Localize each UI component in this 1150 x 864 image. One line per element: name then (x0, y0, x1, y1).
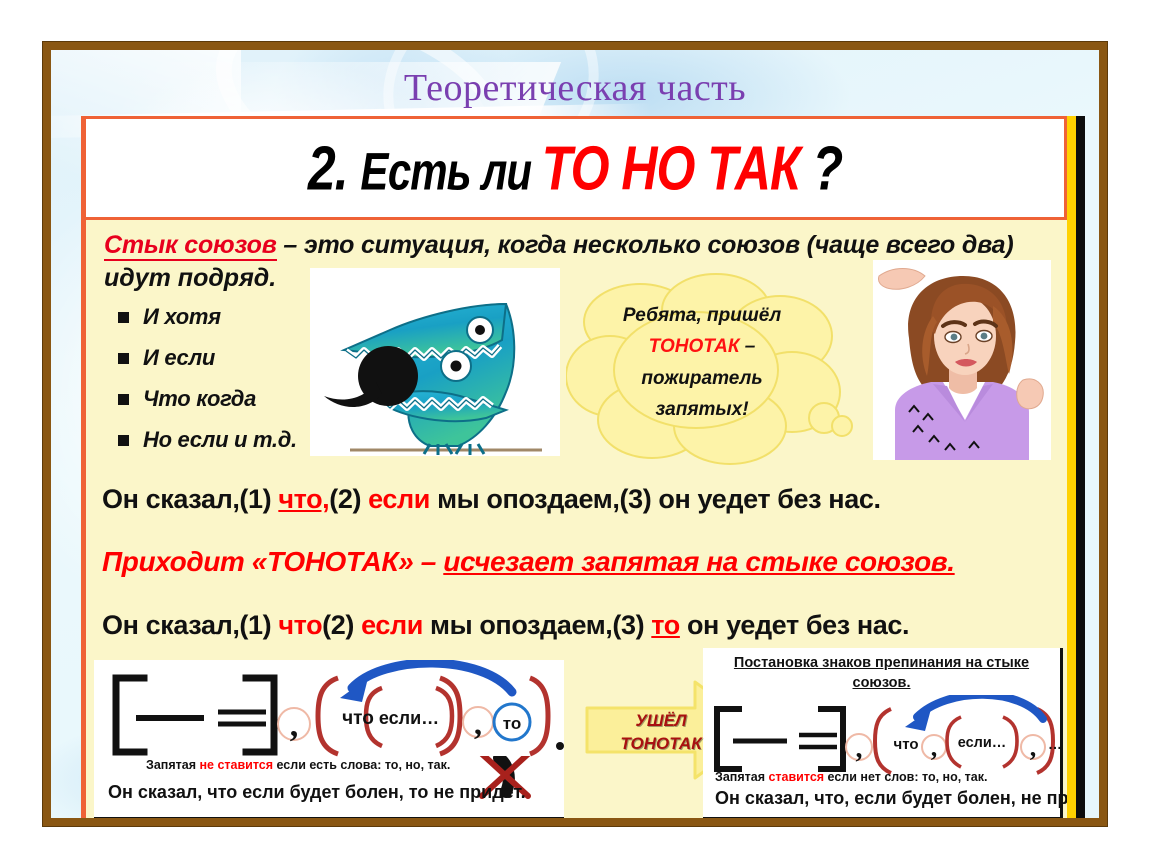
rule-part-b: исчезает запятая на стыке союзов. (443, 546, 954, 577)
girl-illustration (873, 260, 1051, 460)
diagram-right-caption-c: если нет слов: то, но, так. (824, 770, 987, 784)
diagram-left-caption: Запятая не ставится если есть слова: то,… (146, 758, 450, 772)
list-item: И если (118, 345, 297, 371)
svg-text:,: , (290, 707, 299, 744)
svg-text:,: , (856, 733, 863, 764)
diagram-left-to: то (503, 714, 522, 733)
sentence1-part-e: мы опоздаем,(3) он уедет без нас. (430, 484, 881, 514)
card-inner: 2. Есть ли ТО НО ТАК ? Стык союзов – это… (81, 116, 1067, 818)
sentence1-chto: что, (278, 484, 329, 514)
sentence1-part-a: Он сказал,(1) (102, 484, 278, 514)
sentence1-esli: если (368, 484, 430, 514)
list-item-label: И хотя (143, 304, 221, 330)
diagram-with-comma: Постановка знаков препинания на стыке со… (703, 648, 1063, 818)
square-bullet-icon (118, 353, 129, 364)
cloud-line-1: Ребята, пришёл (566, 300, 838, 331)
sentence1-part-c: (2) (329, 484, 368, 514)
thought-cloud: Ребята, пришёл ТОНОТАК – пожиратель запя… (566, 270, 856, 470)
list-item-label: Но если и т.д. (143, 427, 297, 453)
question-banner-text: 2. Есть ли ТО НО ТАК ? (308, 132, 842, 205)
arrow-label-line-2: ТОНОТАК (601, 733, 721, 756)
diagram-right-title: Постановка знаков препинания на стыке со… (703, 648, 1060, 693)
thought-cloud-text: Ребята, пришёл ТОНОТАК – пожиратель запя… (566, 300, 838, 425)
rule-statement: Приходит «ТОНОТАК» – исчезает запятая на… (102, 546, 955, 578)
square-bullet-icon (118, 435, 129, 446)
diagram-right-example: Он сказал, что, если будет болен, не при… (715, 788, 1067, 809)
definition-line: Стык союзов – это ситуация, когда нескол… (104, 230, 1061, 261)
example-sentence-after: Он сказал,(1) что(2) если мы опоздаем,(3… (102, 610, 909, 641)
picture-frame: Теоретическая часть 2. Есть ли ТО НО ТАК… (42, 41, 1108, 827)
diagram-left-chto: что (342, 708, 374, 729)
sentence2-esli: если (361, 610, 423, 640)
diagram-right-caption-a: Запятая (715, 770, 768, 784)
cloud-keyword: ТОНОТАК (649, 336, 740, 357)
diagram-right-title-line-2: союзов. (853, 675, 911, 691)
list-item: Что когда (118, 386, 297, 412)
question-keywords: ТО НО ТАК (542, 133, 800, 203)
diagram-left-caption-b: не ставится (199, 758, 273, 772)
definition-term: Стык союзов (104, 231, 277, 261)
conjunction-pair-list: И хотя И если Что когда Но если и т.д. (118, 304, 297, 468)
diagram-right-ellipsis: … (1048, 736, 1062, 752)
list-item-label: И если (143, 345, 215, 371)
list-item-label: Что когда (143, 386, 256, 412)
list-item: И хотя (118, 304, 297, 330)
diagram-left-esli: если… (379, 708, 439, 728)
question-number: 2. (308, 133, 361, 203)
arrow-label-line-1: УШЁЛ (601, 710, 721, 733)
question-banner: 2. Есть ли ТО НО ТАК ? (81, 116, 1067, 220)
svg-text:,: , (1030, 733, 1037, 762)
slide-canvas: Теоретическая часть 2. Есть ли ТО НО ТАК… (51, 50, 1099, 818)
list-item: Но если и т.д. (118, 427, 297, 453)
arrow-label: УШЁЛ ТОНОТАК (601, 710, 721, 756)
definition-line-2: идут подряд. (104, 264, 276, 293)
cloud-line-3: пожиратель (566, 363, 838, 394)
diagram-left-caption-c: если есть слова: то, но, так. (273, 758, 450, 772)
sentence2-to: то (651, 610, 680, 640)
diagram-right-chto: что (893, 736, 918, 753)
card-right-edge-bar (1067, 116, 1085, 818)
square-bullet-icon (118, 394, 129, 405)
diagram-right-caption-b: ставится (768, 770, 824, 784)
square-bullet-icon (118, 312, 129, 323)
crocodile-illustration (310, 268, 560, 456)
diagram-left-example: Он сказал, что если будет болен, то не п… (108, 782, 526, 803)
example-sentence-before: Он сказал,(1) что,(2) если мы опоздаем,(… (102, 484, 881, 515)
page-title: Теоретическая часть (51, 66, 1099, 110)
question-suffix: ? (800, 133, 842, 203)
diagram-right-title-line-1: Постановка знаков препинания на стыке (734, 655, 1029, 671)
rule-part-a: Приходит «ТОНОТАК» – (102, 546, 443, 577)
content-card: 2. Есть ли ТО НО ТАК ? Стык союзов – это… (81, 116, 1085, 818)
svg-text:,: , (931, 733, 938, 762)
diagram-left-caption-a: Запятая (146, 758, 199, 772)
diagram-no-comma: , что если… , (94, 660, 564, 818)
sentence2-part-c: (2) (322, 610, 361, 640)
diagram-right-caption: Запятая ставится если нет слов: то, но, … (715, 770, 987, 784)
question-prefix: Есть ли (360, 142, 541, 201)
sentence2-part-e: мы опоздаем,(3) (423, 610, 651, 640)
svg-text:,: , (474, 705, 482, 741)
sentence2-chto: что (278, 610, 322, 640)
cloud-line-2-suffix: – (740, 336, 756, 357)
lesson-body: Стык союзов – это ситуация, когда нескол… (81, 220, 1067, 818)
definition-rest: – это ситуация, когда несколько союзов (… (277, 231, 1014, 259)
cloud-line-4: запятых! (566, 394, 838, 425)
sentence2-part-a: Он сказал,(1) (102, 610, 278, 640)
diagram-right-esli: если… (958, 735, 1007, 751)
sentence2-part-g: он уедет без нас. (680, 610, 909, 640)
